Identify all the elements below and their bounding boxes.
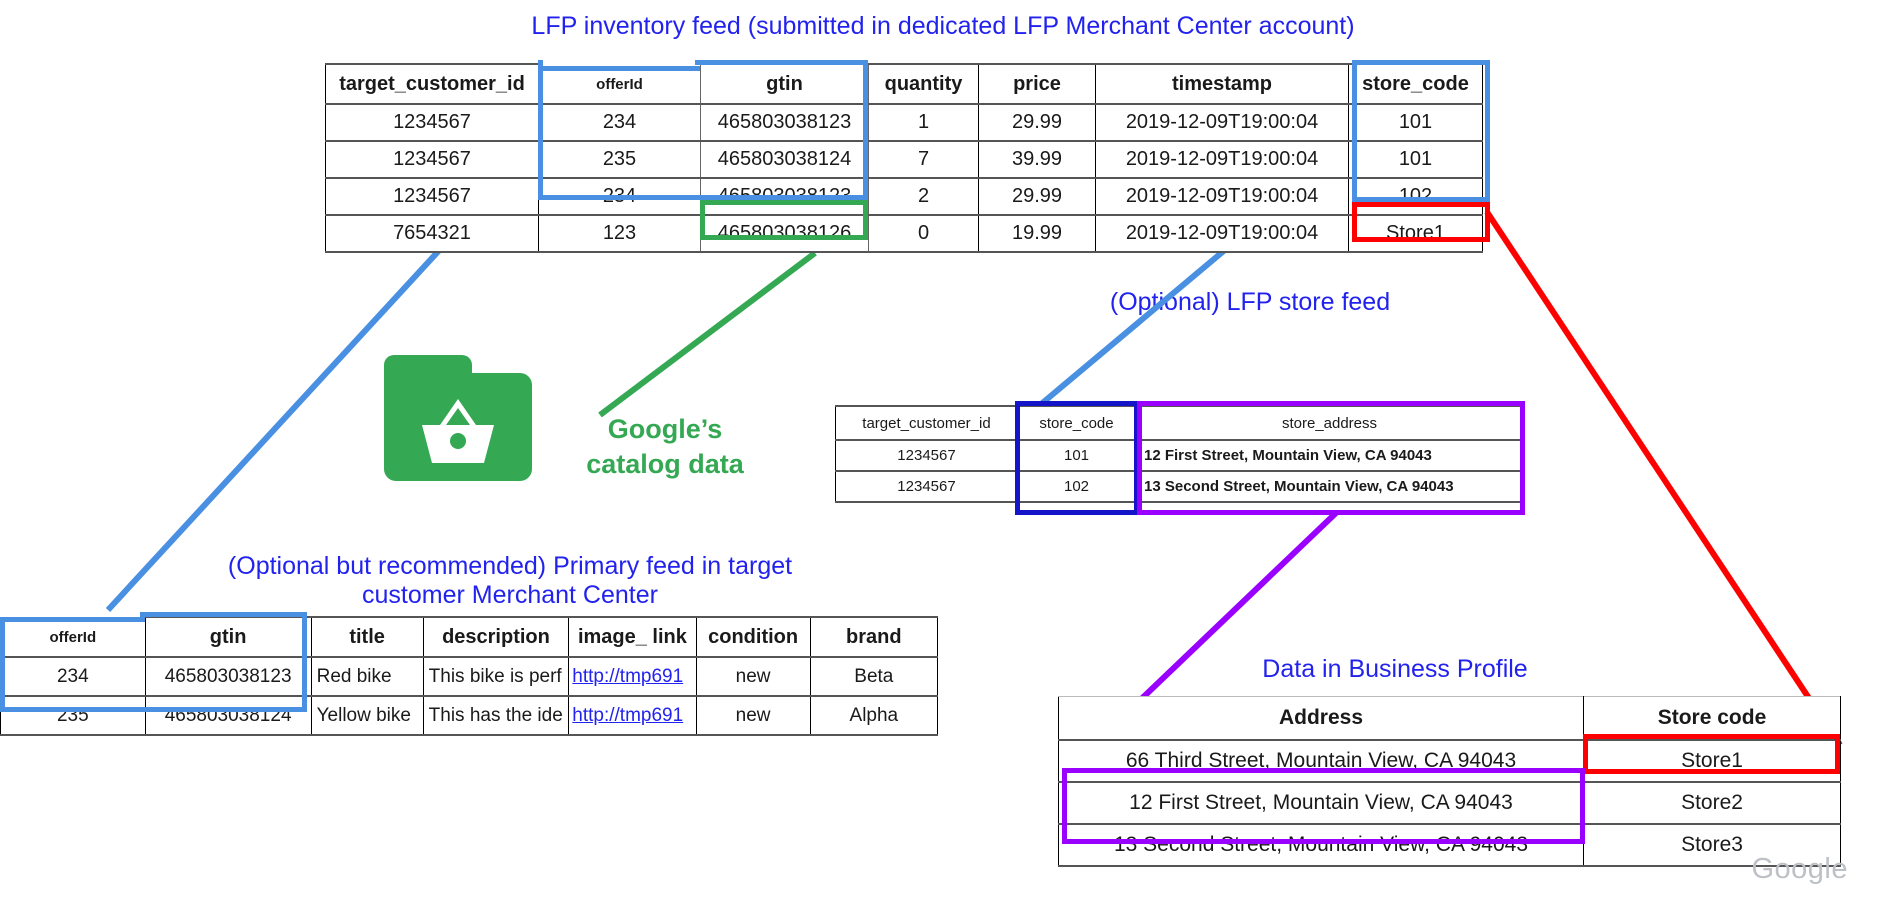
- title-lfp-inventory-feed: LFP inventory feed (submitted in dedicat…: [343, 12, 1543, 41]
- table-row: 235 465803038124 Yellow bike This has th…: [1, 696, 938, 735]
- cell-image-link[interactable]: http://tmp691: [569, 657, 696, 696]
- table-primary-feed: offerId gtin title description image_ li…: [0, 616, 938, 736]
- cell-store-code: 101: [1349, 104, 1483, 141]
- google-watermark: Google: [1751, 853, 1848, 886]
- catalog-data-label: Google’s catalog data: [560, 412, 770, 482]
- col-timestamp: timestamp: [1096, 64, 1349, 104]
- cell-store-code: 101: [1349, 141, 1483, 178]
- cell-offerid: 123: [539, 215, 701, 252]
- cell-offerid: 235: [539, 141, 701, 178]
- cell-timestamp: 2019-12-09T19:00:04: [1096, 141, 1349, 178]
- cell-title: Yellow bike: [311, 696, 423, 735]
- cell-offerid: 234: [539, 178, 701, 215]
- table-row: 13 Second Street, Mountain View, CA 9404…: [1059, 824, 1841, 866]
- table-header-row: target_customer_id store_code store_addr…: [836, 406, 1524, 440]
- cell-target-customer-id: 1234567: [326, 141, 539, 178]
- cell-offerid: 235: [1, 696, 146, 735]
- connector-green-gtin-to-catalog: [600, 253, 815, 415]
- col-store-address: store_address: [1136, 406, 1524, 440]
- cell-address: 12 First Street, Mountain View, CA 94043: [1059, 782, 1584, 824]
- col-quantity: quantity: [869, 64, 979, 104]
- title-primary-feed: (Optional but recommended) Primary feed …: [180, 552, 840, 610]
- col-target-customer-id: target_customer_id: [836, 406, 1018, 440]
- col-gtin: gtin: [701, 64, 869, 104]
- col-image-link: image_ link: [569, 617, 696, 657]
- cell-gtin: 465803038123: [701, 104, 869, 141]
- cell-title: Red bike: [311, 657, 423, 696]
- table-row: 66 Third Street, Mountain View, CA 94043…: [1059, 740, 1841, 782]
- cell-store-code: 101: [1018, 440, 1136, 471]
- table-header-row: offerId gtin title description image_ li…: [1, 617, 938, 657]
- cell-gtin: 465803038123: [701, 178, 869, 215]
- cell-offerid: 234: [539, 104, 701, 141]
- table-lfp-store-feed: target_customer_id store_code store_addr…: [835, 405, 1524, 503]
- cell-quantity: 2: [869, 178, 979, 215]
- cell-condition: new: [696, 696, 810, 735]
- table-row: 1234567 101 12 First Street, Mountain Vi…: [836, 440, 1524, 471]
- col-title: title: [311, 617, 423, 657]
- table-business-profile: Address Store code 66 Third Street, Moun…: [1058, 696, 1841, 867]
- cell-target-customer-id: 1234567: [836, 471, 1018, 502]
- cell-gtin: 465803038124: [701, 141, 869, 178]
- cell-quantity: 0: [869, 215, 979, 252]
- cell-gtin: 465803038124: [145, 696, 311, 735]
- google-catalog-icon: [384, 355, 532, 481]
- table-lfp-inventory-feed: target_customer_id offerId gtin quantity…: [325, 63, 1483, 253]
- col-price: price: [979, 64, 1096, 104]
- title-business-profile: Data in Business Profile: [1195, 655, 1595, 684]
- title-lfp-store-feed: (Optional) LFP store feed: [1060, 288, 1440, 317]
- cell-store-address: 13 Second Street, Mountain View, CA 9404…: [1136, 471, 1524, 502]
- table-header-row: Address Store code: [1059, 697, 1841, 741]
- table-row: 1234567 235 465803038124 7 39.99 2019-12…: [326, 141, 1483, 178]
- cell-description: This bike is perf: [423, 657, 569, 696]
- col-brand: brand: [810, 617, 937, 657]
- col-offerid: offerId: [539, 64, 701, 104]
- cell-price: 19.99: [979, 215, 1096, 252]
- cell-target-customer-id: 1234567: [836, 440, 1018, 471]
- col-gtin: gtin: [145, 617, 311, 657]
- cell-price: 39.99: [979, 141, 1096, 178]
- cell-condition: new: [696, 657, 810, 696]
- cell-store-code: 102: [1349, 178, 1483, 215]
- col-store-code: Store code: [1584, 697, 1841, 741]
- cell-gtin: 465803038123: [145, 657, 311, 696]
- cell-offerid: 234: [1, 657, 146, 696]
- cell-address: 13 Second Street, Mountain View, CA 9404…: [1059, 824, 1584, 866]
- cell-brand: Alpha: [810, 696, 937, 735]
- cell-store-code: Store1: [1584, 740, 1841, 782]
- table-row: 1234567 234 465803038123 2 29.99 2019-12…: [326, 178, 1483, 215]
- cell-address: 66 Third Street, Mountain View, CA 94043: [1059, 740, 1584, 782]
- table-row: 12 First Street, Mountain View, CA 94043…: [1059, 782, 1841, 824]
- col-offerid: offerId: [1, 617, 146, 657]
- cell-price: 29.99: [979, 178, 1096, 215]
- cell-description: This has the ide: [423, 696, 569, 735]
- cell-store-code: Store2: [1584, 782, 1841, 824]
- cell-target-customer-id: 1234567: [326, 104, 539, 141]
- cell-store-address: 12 First Street, Mountain View, CA 94043: [1136, 440, 1524, 471]
- col-target-customer-id: target_customer_id: [326, 64, 539, 104]
- cell-quantity: 1: [869, 104, 979, 141]
- cell-image-link[interactable]: http://tmp691: [569, 696, 696, 735]
- cell-target-customer-id: 1234567: [326, 178, 539, 215]
- cell-timestamp: 2019-12-09T19:00:04: [1096, 178, 1349, 215]
- cell-timestamp: 2019-12-09T19:00:04: [1096, 215, 1349, 252]
- table-row: 1234567 234 465803038123 1 29.99 2019-12…: [326, 104, 1483, 141]
- col-store-code: store_code: [1349, 64, 1483, 104]
- cell-gtin: 465803038126: [701, 215, 869, 252]
- col-description: description: [423, 617, 569, 657]
- shopping-basket-icon: [384, 355, 532, 481]
- cell-timestamp: 2019-12-09T19:00:04: [1096, 104, 1349, 141]
- cell-price: 29.99: [979, 104, 1096, 141]
- table-row: 234 465803038123 Red bike This bike is p…: [1, 657, 938, 696]
- table-row: 7654321 123 465803038126 0 19.99 2019-12…: [326, 215, 1483, 252]
- diagram-canvas: LFP inventory feed (submitted in dedicat…: [0, 0, 1886, 900]
- col-address: Address: [1059, 697, 1584, 741]
- cell-target-customer-id: 7654321: [326, 215, 539, 252]
- cell-store-code: Store1: [1349, 215, 1483, 252]
- col-condition: condition: [696, 617, 810, 657]
- cell-brand: Beta: [810, 657, 937, 696]
- table-header-row: target_customer_id offerId gtin quantity…: [326, 64, 1483, 104]
- col-store-code: store_code: [1018, 406, 1136, 440]
- table-row: 1234567 102 13 Second Street, Mountain V…: [836, 471, 1524, 502]
- cell-quantity: 7: [869, 141, 979, 178]
- cell-store-code: 102: [1018, 471, 1136, 502]
